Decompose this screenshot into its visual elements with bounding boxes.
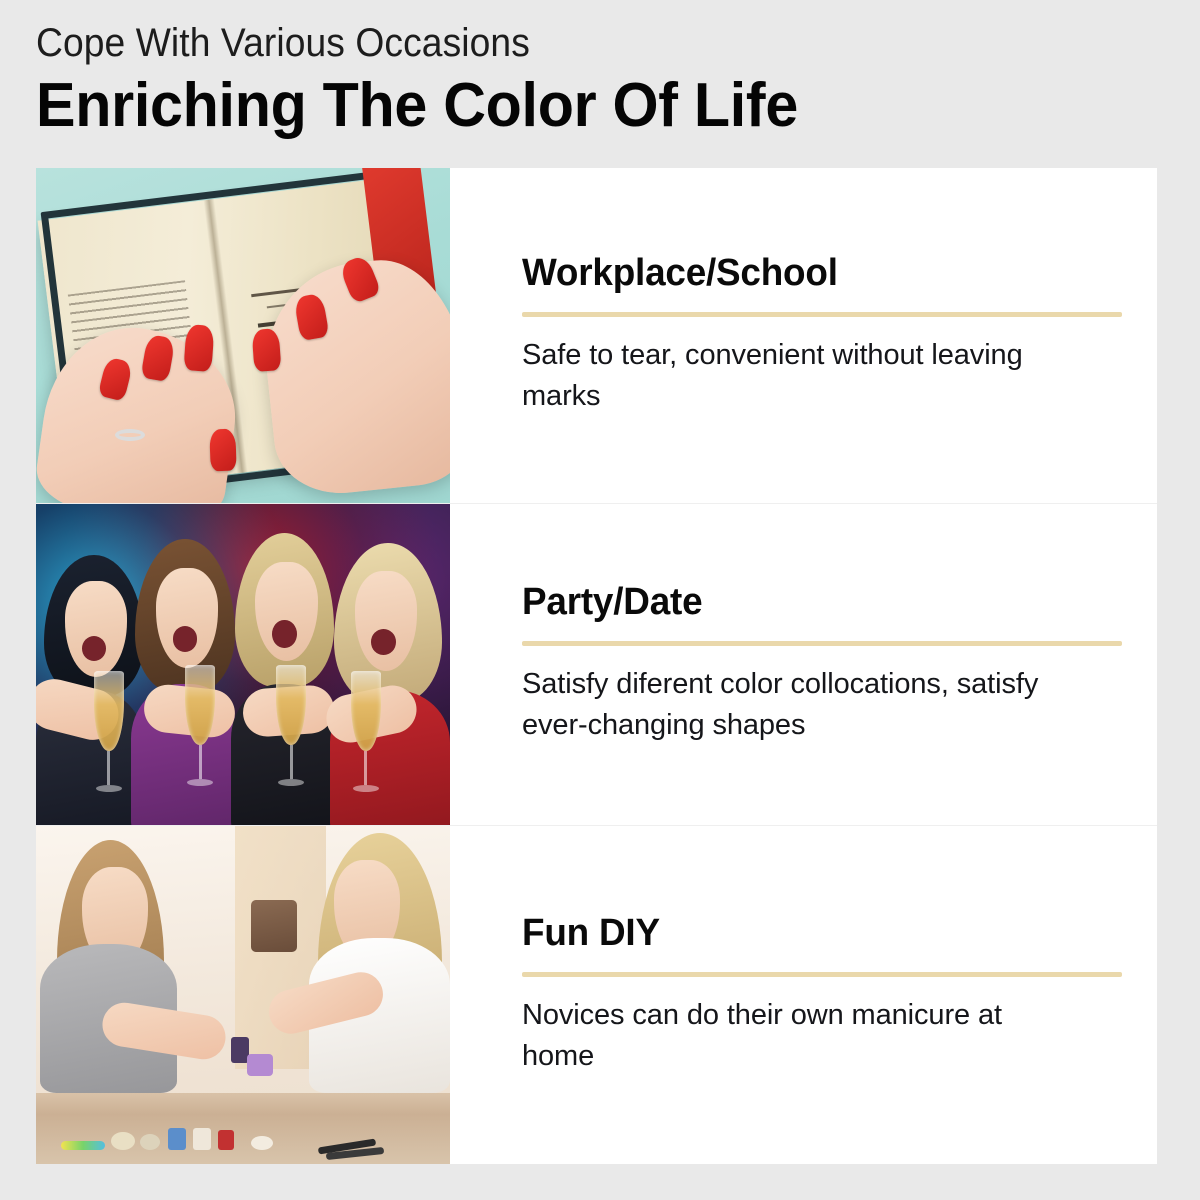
title-underline-rule: [522, 972, 1122, 977]
nail-polish-bottle-icon: [193, 1128, 211, 1150]
table-surface: [36, 1093, 450, 1164]
feature-description: Satisfy diferent color collocations, sat…: [522, 664, 1082, 746]
feature-card: Workplace/School Safe to tear, convenien…: [36, 168, 1157, 1164]
woman-mouth: [371, 629, 396, 655]
feature-row: Fun DIY Novices can do their own manicur…: [36, 825, 1157, 1164]
feature-row: Party/Date Satisfy diferent color colloc…: [36, 503, 1157, 825]
feature-description: Novices can do their own manicure at hom…: [522, 995, 1082, 1077]
feature-title: Workplace/School: [522, 253, 1104, 295]
nail-art-strips-icon: [61, 1141, 105, 1150]
feature-row: Workplace/School Safe to tear, convenien…: [36, 168, 1157, 503]
page-header: Cope With Various Occasions Enriching Th…: [36, 22, 1156, 141]
decoration-icon: [140, 1134, 160, 1150]
nail-polish-bottle-icon: [168, 1128, 186, 1150]
nail-icon: [183, 325, 214, 373]
nail-polish-bottle-icon: [218, 1130, 234, 1150]
product-feature-page: Cope With Various Occasions Enriching Th…: [0, 0, 1200, 1200]
feature-description: Safe to tear, convenient without leaving…: [522, 335, 1082, 417]
woman-mouth: [272, 620, 297, 649]
nail-icon: [209, 429, 236, 472]
page-title: Enriching The Color Of Life: [36, 71, 1106, 140]
title-underline-rule: [522, 312, 1122, 317]
photo-hands-on-book-image: [36, 168, 450, 503]
photo-hands-on-book: [36, 168, 450, 503]
photo-diy-manicure: [36, 826, 450, 1164]
feature-content: Workplace/School Safe to tear, convenien…: [450, 168, 1177, 503]
header-eyebrow: Cope With Various Occasions: [36, 22, 1078, 65]
feature-content: Party/Date Satisfy diferent color colloc…: [450, 504, 1177, 825]
photo-party-champagne-image: [36, 504, 450, 825]
feature-title: Fun DIY: [522, 913, 1104, 955]
title-underline-rule: [522, 641, 1122, 646]
photo-party-champagne: [36, 504, 450, 825]
feature-content: Fun DIY Novices can do their own manicur…: [450, 826, 1177, 1164]
feature-title: Party/Date: [522, 582, 1104, 624]
nail-polish-bottle-icon: [231, 1037, 249, 1063]
room-lamp: [251, 900, 297, 952]
woman-mouth: [173, 626, 198, 652]
nail-polish-bottle-icon: [247, 1054, 273, 1076]
photo-diy-manicure-image: [36, 826, 450, 1164]
